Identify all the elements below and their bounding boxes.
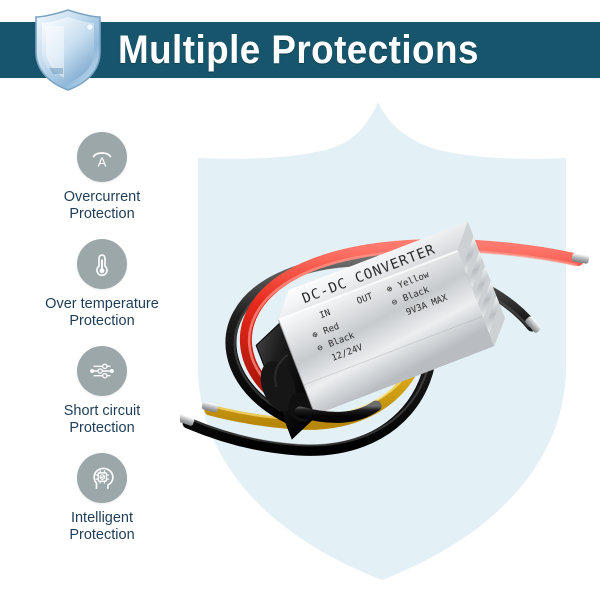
feature-label: Short circuit Protection	[64, 403, 141, 437]
feature-item-over-temperature[interactable]: Over temperature Protection	[12, 239, 192, 330]
shield-icon	[33, 8, 103, 92]
page-title: Multiple Protections	[118, 22, 550, 78]
feature-item-short-circuit[interactable]: Short circuit Protection	[12, 346, 192, 437]
feature-label: Intelligent Protection	[69, 510, 134, 544]
feature-item-overcurrent[interactable]: A Overcurrent Protection	[12, 132, 192, 223]
feature-label: Overcurrent Protection	[64, 189, 141, 223]
smart-head-chip-icon	[77, 453, 127, 503]
infographic-canvas: Multiple Protections A Overcurrent Prote…	[0, 0, 600, 600]
current-gauge-icon: A	[77, 132, 127, 182]
circuit-sliders-icon	[77, 346, 127, 396]
product-image-dc-dc-converter: DC-DC CONVERTER IN OUT ⊕ Red ⊖ Black 12/…	[180, 120, 600, 560]
feature-label: Over temperature Protection	[45, 296, 159, 330]
thermometer-icon	[77, 239, 127, 289]
feature-item-intelligent[interactable]: Intelligent Protection	[12, 453, 192, 544]
svg-text:A: A	[98, 154, 107, 169]
